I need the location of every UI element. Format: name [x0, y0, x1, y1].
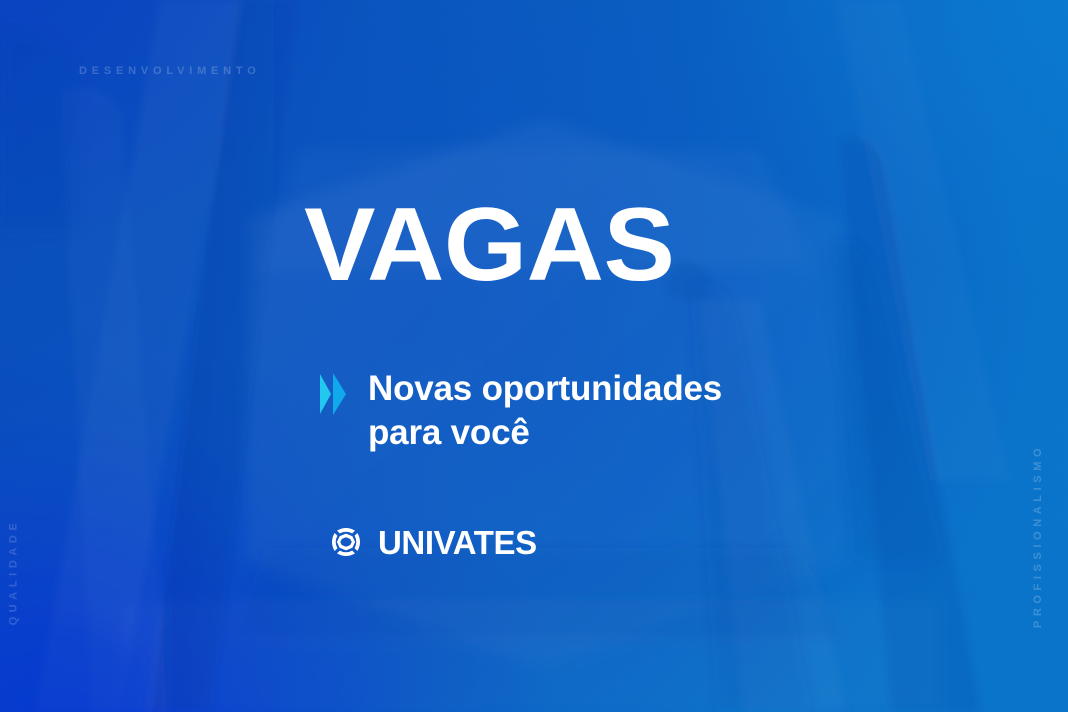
subheadline-line-2: para você	[368, 411, 722, 455]
univates-emblem-icon	[325, 521, 367, 563]
univates-logo: UNIVATES	[325, 521, 537, 563]
univates-wordmark: UNIVATES	[378, 526, 537, 559]
subheadline-block: Novas oportunidades para você	[318, 367, 722, 455]
page-title: VAGAS	[304, 193, 674, 297]
poster-content: VAGAS Novas oportunidades para você	[0, 0, 1068, 712]
subheadline-line-1: Novas oportunidades	[368, 367, 722, 411]
vagas-poster: DESENVOLVIMENTO QUALIDADE PROFISSIONALIS…	[0, 0, 1068, 712]
double-chevron-right-icon	[318, 372, 348, 416]
subheadline: Novas oportunidades para você	[368, 367, 722, 455]
